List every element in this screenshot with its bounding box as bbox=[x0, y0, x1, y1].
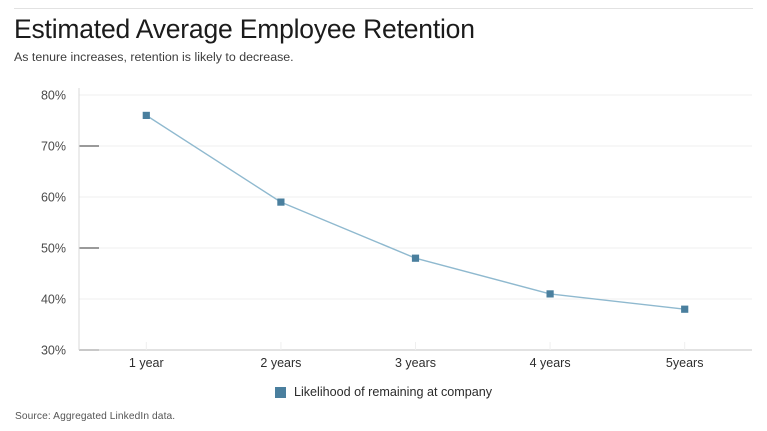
page-title: Estimated Average Employee Retention bbox=[14, 14, 754, 45]
x-axis-tick-label: 5years bbox=[666, 356, 704, 370]
y-axis-tick-marks bbox=[79, 95, 99, 350]
legend-swatch-icon bbox=[275, 387, 286, 398]
data-point-marker[interactable] bbox=[143, 112, 150, 119]
chart-header: Estimated Average Employee Retention As … bbox=[14, 14, 754, 65]
y-axis-tick-label: 80% bbox=[41, 89, 66, 103]
y-axis-tick-label: 60% bbox=[41, 191, 66, 205]
x-axis-tick-label: 4 years bbox=[530, 356, 571, 370]
data-point-marker[interactable] bbox=[412, 255, 419, 262]
x-axis-tick-labels: 1 year2 years3 years4 years5years bbox=[129, 356, 704, 370]
y-axis-tick-label: 40% bbox=[41, 293, 66, 307]
legend-item-label: Likelihood of remaining at company bbox=[294, 386, 492, 399]
y-axis-tick-labels: 30%40%50%60%70%80% bbox=[41, 89, 66, 358]
x-axis-tick-label: 1 year bbox=[129, 356, 164, 370]
header-divider bbox=[14, 8, 753, 9]
chart-subtitle: As tenure increases, retention is likely… bbox=[14, 50, 754, 65]
y-axis-tick-label: 50% bbox=[41, 242, 66, 256]
chart-legend: Likelihood of remaining at company bbox=[0, 386, 767, 399]
x-axis-tick-label: 2 years bbox=[260, 356, 301, 370]
series-line-likelihood bbox=[146, 115, 684, 309]
x-axis-tick-label: 3 years bbox=[395, 356, 436, 370]
x-axis-tick-marks bbox=[146, 342, 684, 350]
data-point-marker[interactable] bbox=[277, 199, 284, 206]
y-axis-tick-label: 70% bbox=[41, 140, 66, 154]
y-axis-tick-label: 30% bbox=[41, 344, 66, 358]
gridlines bbox=[79, 95, 752, 350]
source-note: Source: Aggregated LinkedIn data. bbox=[15, 411, 175, 422]
data-point-marker[interactable] bbox=[681, 306, 688, 313]
series-path bbox=[146, 115, 684, 309]
data-point-marker[interactable] bbox=[547, 290, 554, 297]
series-markers-likelihood[interactable] bbox=[143, 112, 689, 313]
